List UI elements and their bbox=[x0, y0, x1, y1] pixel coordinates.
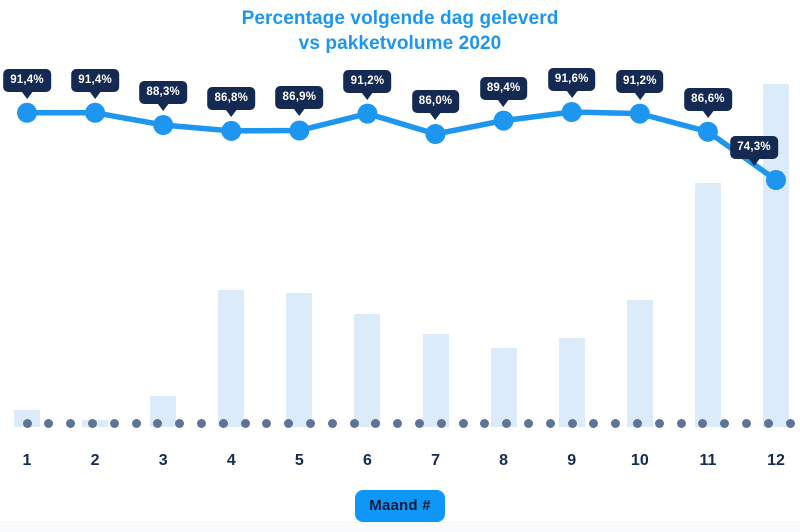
x-axis-title-pill[interactable]: Maand # bbox=[355, 490, 444, 522]
x-axis-tick-label: 1 bbox=[23, 452, 32, 470]
chart-page: Percentage volgende dag geleverd vs pakk… bbox=[0, 0, 800, 532]
x-axis-tick-label: 10 bbox=[631, 452, 649, 470]
data-label-callout: 89,4% bbox=[480, 77, 528, 100]
data-label-callout: 91,2% bbox=[616, 70, 664, 93]
x-axis-tick-label: 3 bbox=[159, 452, 168, 470]
x-axis-tick-label: 4 bbox=[227, 452, 236, 470]
x-axis-tick-label: 2 bbox=[91, 452, 100, 470]
x-axis-tick-label: 6 bbox=[363, 452, 372, 470]
x-axis-tick-label: 5 bbox=[295, 452, 304, 470]
x-axis-tick-label: 8 bbox=[499, 452, 508, 470]
chart-plot-area: 91,4%91,4%88,3%86,8%86,9%91,2%86,0%89,4%… bbox=[0, 0, 800, 440]
x-axis-tick-label: 7 bbox=[431, 452, 440, 470]
data-label-callout: 88,3% bbox=[139, 81, 187, 104]
x-axis-tick-label: 12 bbox=[767, 452, 785, 470]
data-label-callout: 91,6% bbox=[548, 68, 596, 91]
data-label-callout: 91,4% bbox=[71, 69, 119, 92]
x-axis-tick-label: 11 bbox=[699, 452, 716, 470]
x-axis: 123456789101112 bbox=[0, 440, 800, 486]
data-label-callout: 91,4% bbox=[3, 69, 51, 92]
data-label-layer: 91,4%91,4%88,3%86,8%86,9%91,2%86,0%89,4%… bbox=[0, 0, 800, 440]
data-label-callout: 86,9% bbox=[276, 86, 324, 109]
data-label-callout: 86,0% bbox=[412, 90, 460, 113]
data-label-callout: 74,3% bbox=[730, 136, 778, 159]
bottom-strip bbox=[0, 522, 800, 532]
data-label-callout: 91,2% bbox=[344, 70, 392, 93]
data-label-callout: 86,6% bbox=[684, 88, 732, 111]
x-axis-tick-label: 9 bbox=[567, 452, 576, 470]
x-axis-title-wrap: Maand # bbox=[0, 490, 800, 522]
data-label-callout: 86,8% bbox=[207, 87, 255, 110]
